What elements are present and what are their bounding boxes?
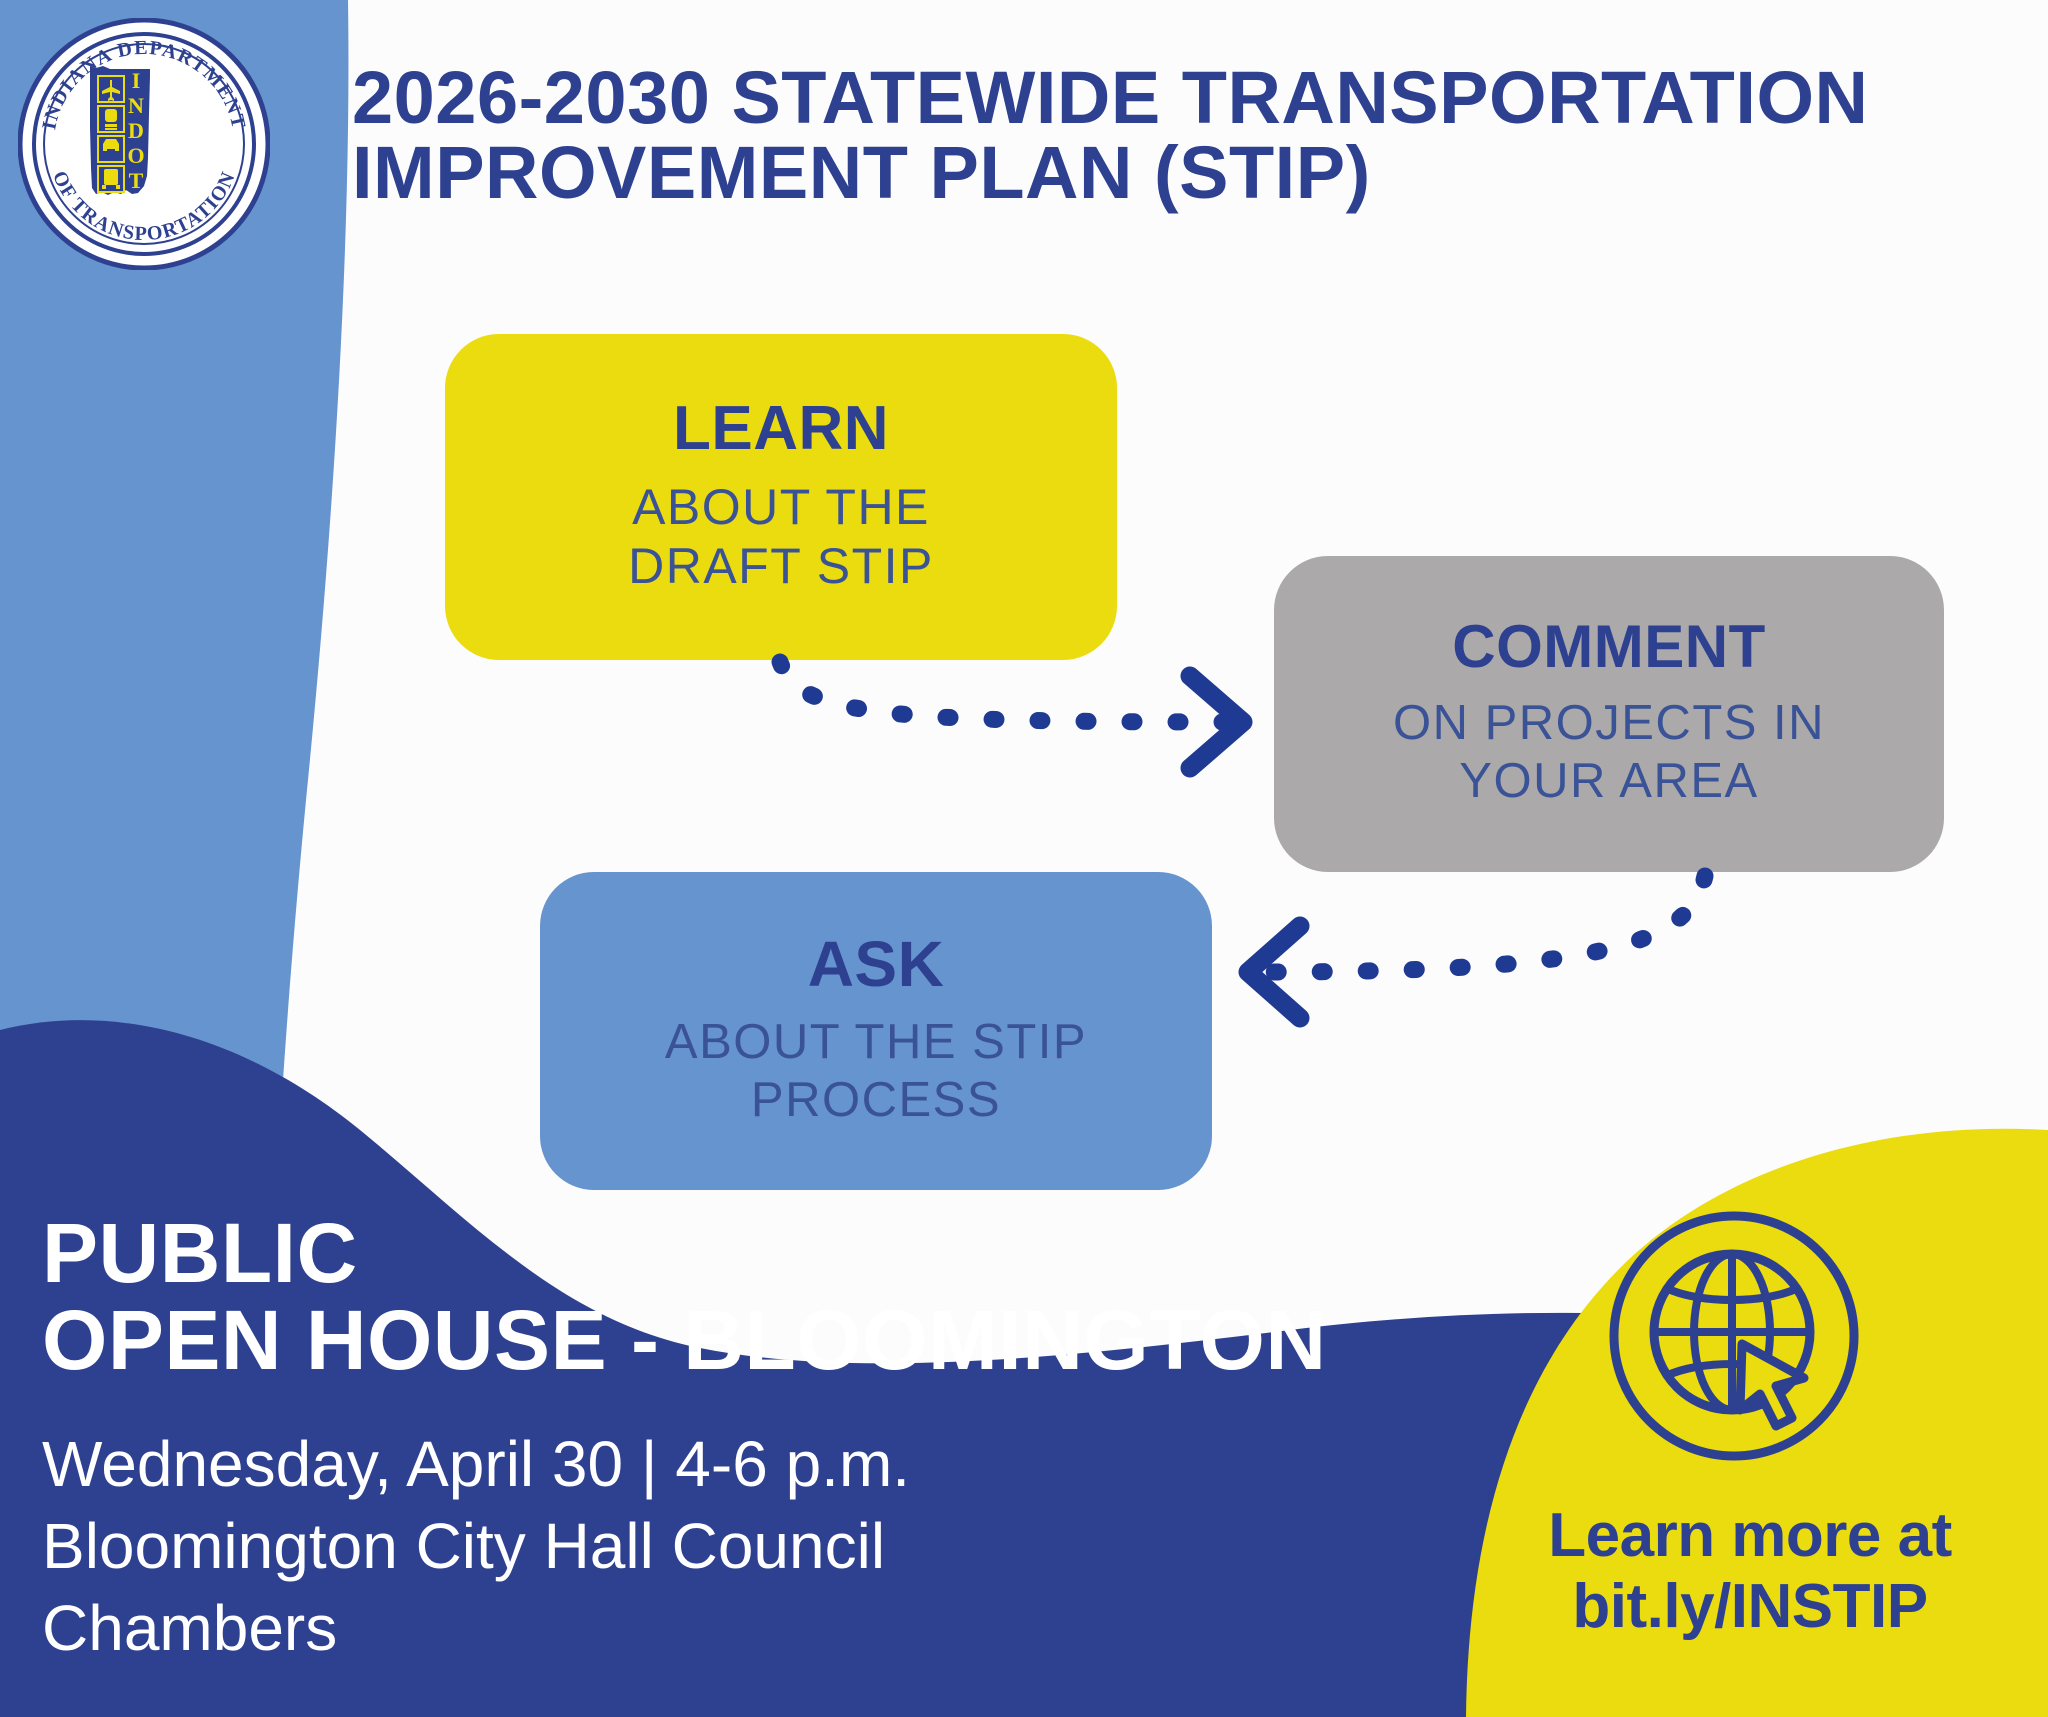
globe-cursor-icon	[1604, 1206, 1864, 1466]
event-details: Wednesday, April 30 | 4-6 p.m. Bloomingt…	[42, 1424, 1362, 1670]
event-headline: PUBLIC OPEN HOUSE - BLOOMINGTON	[42, 1210, 1402, 1383]
learn-more-link[interactable]: Learn more at bit.ly/INSTIP	[1490, 1500, 2010, 1643]
arrow-learn-to-comment	[780, 662, 1243, 768]
arrow-comment-to-ask	[1248, 876, 1705, 1018]
cursor-arrow	[1740, 1344, 1804, 1426]
poster-canvas: INDIANA DEPARTMENT OF TRANSPORTATION I	[0, 0, 2048, 1717]
